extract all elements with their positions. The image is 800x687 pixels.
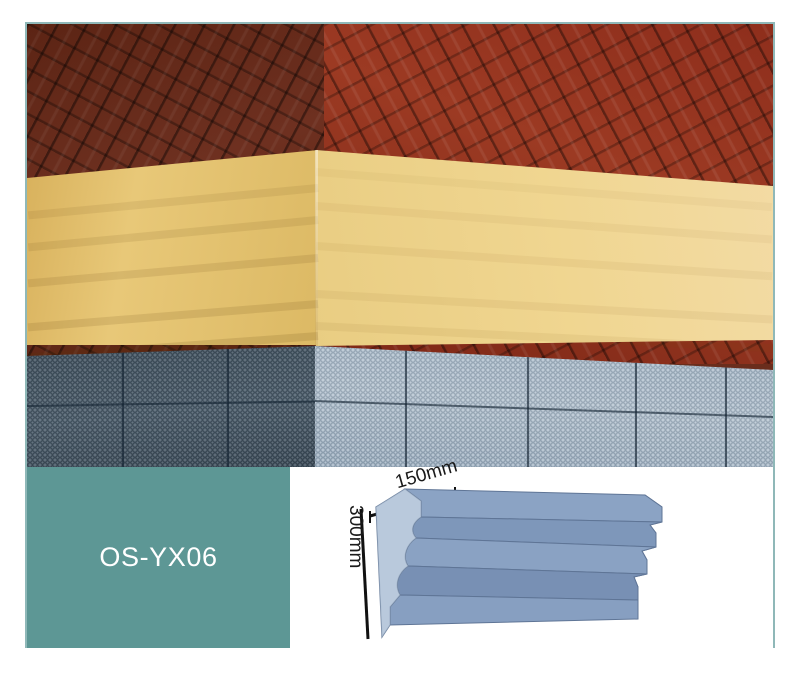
building-corner-photo — [27, 24, 773, 467]
product-image-card: OS-YX06 — [0, 0, 800, 687]
cornice-left-wing — [27, 150, 318, 360]
specification-panel: 150mm 300mm — [290, 467, 773, 648]
wall-grout-horizontal — [27, 400, 319, 407]
product-code-label: OS-YX06 — [99, 542, 217, 573]
wall-grout-horizontal — [315, 400, 773, 418]
wall-right-face — [315, 342, 773, 467]
bottom-row: OS-YX06 — [27, 467, 773, 648]
cornice-moulding — [27, 150, 773, 360]
moulding-body-bottom — [390, 595, 638, 625]
wall-grout-vertical — [527, 342, 529, 467]
wall-left-face — [27, 342, 317, 467]
wall-grout-vertical — [227, 342, 229, 467]
cornice-corner-seam — [315, 150, 318, 355]
wall-grout-vertical — [725, 342, 727, 467]
wall-grout-vertical — [635, 342, 637, 467]
wall-area — [27, 342, 773, 467]
height-dimension-label: 300mm — [344, 505, 366, 568]
product-code-panel: OS-YX06 — [27, 467, 290, 648]
